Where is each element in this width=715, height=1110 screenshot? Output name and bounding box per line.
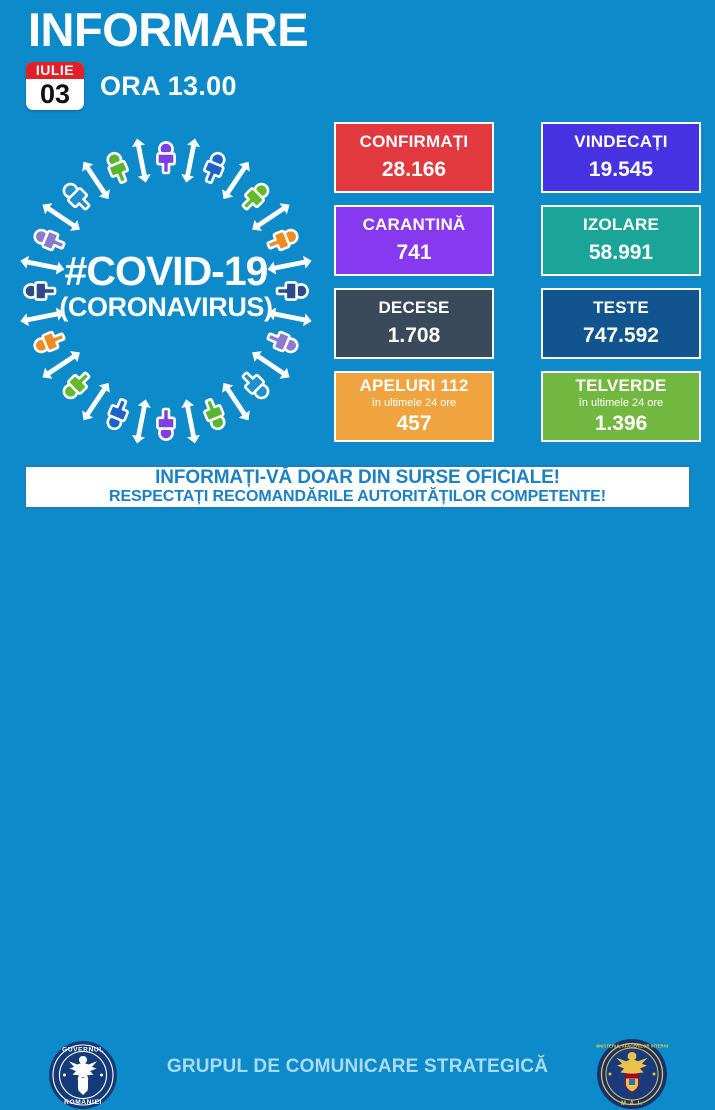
stat-label: IZOLARE	[545, 216, 697, 235]
stat-value: 19.545	[545, 159, 697, 181]
stat-card-telverde: TELVERDEîn ultimele 24 ore1.396	[541, 371, 701, 442]
covid-ring-graphic: #COVID-19 (CORONAVIRUS)	[16, 136, 316, 446]
notice-line-2: RESPECTAȚI RECOMANDĂRILE AUTORITĂȚILOR C…	[109, 488, 606, 506]
person-icon	[238, 180, 272, 214]
stat-card-confirmati: CONFIRMAȚI28.166	[334, 122, 494, 193]
person-icon	[60, 368, 94, 402]
stat-value: 58.991	[545, 242, 697, 264]
stat-card-vindecati: VINDECAȚI19.545	[541, 122, 701, 193]
stat-card-izolare: IZOLARE58.991	[541, 205, 701, 276]
person-icon	[60, 180, 94, 214]
stat-label: TELVERDE	[545, 377, 697, 396]
ring-people-group	[19, 137, 313, 445]
stat-card-carantina: CARANTINĂ741	[334, 205, 494, 276]
connector-arrow-icon	[19, 254, 66, 276]
svg-text:ROMÂNIEI: ROMÂNIEI	[64, 1097, 102, 1106]
stat-card-apeluri-112: APELURI 112în ultimele 24 ore457	[334, 371, 494, 442]
stat-label: TESTE	[545, 299, 697, 318]
calendar-icon: IULIE 03	[26, 62, 84, 110]
connector-arrow-icon	[180, 398, 202, 445]
official-sources-notice: INFORMAȚI-VĂ DOAR DIN SURSE OFICIALE! RE…	[24, 465, 691, 509]
calendar-day: 03	[26, 79, 84, 110]
person-icon	[24, 282, 55, 299]
person-icon	[265, 328, 300, 356]
page-title: INFORMARE	[28, 6, 308, 53]
stat-value: 1.708	[338, 325, 490, 347]
person-icon	[265, 226, 300, 254]
stat-value: 741	[338, 242, 490, 264]
stat-label: APELURI 112	[338, 377, 490, 396]
stat-card-teste: TESTE747.592	[541, 288, 701, 359]
footer-organization: GRUPUL DE COMUNICARE STRATEGICĂ	[0, 1056, 715, 1078]
stat-label: CONFIRMAȚI	[338, 133, 490, 152]
stat-card-decese: DECESE1.708	[334, 288, 494, 359]
connector-arrow-icon	[180, 137, 202, 184]
report-time: ORA 13.00	[100, 71, 237, 102]
connector-arrow-icon	[131, 398, 153, 445]
connector-arrow-icon	[266, 306, 313, 328]
connector-arrow-icon	[266, 254, 313, 276]
statistics-grid: CONFIRMAȚI28.166VINDECAȚI19.545CARANTINĂ…	[334, 122, 702, 442]
person-icon	[32, 226, 67, 254]
footer: GUVERNUL ROMÂNIEI MINISTERUL AFACERILOR …	[0, 516, 715, 600]
notice-line-1: INFORMAȚI-VĂ DOAR DIN SURSE OFICIALE!	[155, 468, 560, 489]
svg-text:M.A.I.: M.A.I.	[621, 1101, 643, 1107]
stat-value: 28.166	[338, 159, 490, 181]
stat-value: 1.396	[545, 413, 697, 435]
person-icon	[201, 150, 229, 185]
date-bar: IULIE 03 ORA 13.00	[26, 62, 237, 110]
svg-text:GUVERNUL: GUVERNUL	[62, 1047, 104, 1054]
person-icon	[104, 397, 132, 432]
stat-sublabel: în ultimele 24 ore	[338, 397, 490, 411]
stat-label: CARANTINĂ	[338, 216, 490, 235]
infographic-root: INFORMARE IULIE 03 ORA 13.00	[0, 0, 715, 600]
people-circle-svg	[16, 136, 316, 446]
person-icon	[32, 328, 67, 356]
stat-label: DECESE	[338, 299, 490, 318]
connector-arrow-icon	[131, 137, 153, 184]
person-icon	[201, 397, 229, 432]
stat-value: 747.592	[545, 325, 697, 347]
person-icon	[157, 142, 174, 173]
stat-sublabel: în ultimele 24 ore	[545, 397, 697, 411]
calendar-month: IULIE	[26, 62, 84, 79]
person-icon	[104, 150, 132, 185]
stat-label: VINDECAȚI	[545, 133, 697, 152]
stat-value: 457	[338, 413, 490, 435]
person-icon	[277, 282, 308, 299]
person-icon	[157, 409, 174, 440]
person-icon	[238, 368, 272, 402]
connector-arrow-icon	[19, 306, 66, 328]
svg-text:MINISTERUL AFACERILOR INTERNE: MINISTERUL AFACERILOR INTERNE	[596, 1044, 668, 1049]
